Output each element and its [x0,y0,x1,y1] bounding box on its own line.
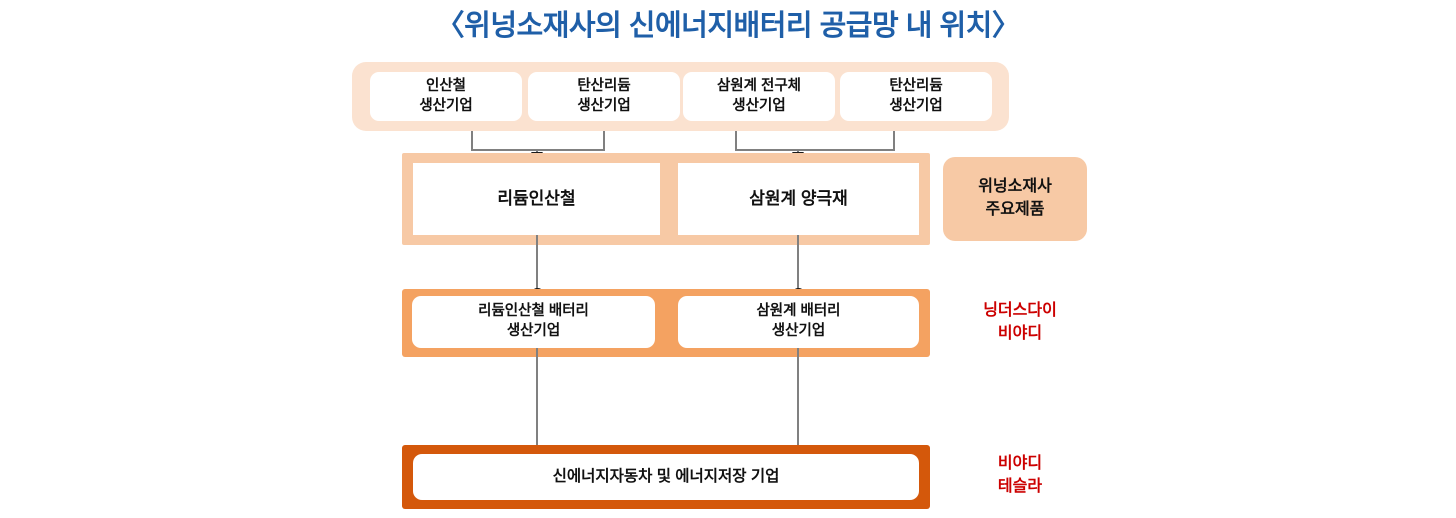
connector-bracket-right [735,149,895,151]
node-lithium-carbonate-2: 탄산리듐 생산기업 [840,72,992,121]
node-lfp-material: 리듐인산철 [413,163,660,235]
side-label-wining-main-products: 위넝소재사 주요제품 [943,157,1087,241]
diagram-canvas: 〈위넝소재사의 신에너지배터리 공급망 내 위치〉 인산철 생산기업 탄산리듐 … [0,0,1456,518]
node-iron-phosphate: 인산철 생산기업 [370,72,522,121]
node-lithium-carbonate-1: 탄산리듐 생산기업 [528,72,680,121]
node-ncm-cathode: 삼원계 양극재 [678,163,919,235]
connector-stem-ncm-precursor [735,131,737,151]
connector-stem-lithium-carbonate-2 [893,131,895,151]
node-lfp-battery-maker: 리듐인산철 배터리 생산기업 [412,296,655,348]
side-label-end-user-companies: 비야디 테슬라 [948,446,1092,506]
page-title: 〈위넝소재사의 신에너지배터리 공급망 내 위치〉 [0,2,1456,44]
connector-lfp-battery-to-enduser [536,348,538,448]
connector-bracket-left [471,149,605,151]
node-ncm-precursor: 삼원계 전구체 생산기업 [683,72,835,121]
connector-ncm-battery-to-enduser [797,348,799,448]
node-nev-ess-companies: 신에너지자동차 및 에너지저장 기업 [413,454,919,500]
side-label-battery-companies: 닝더스다이 비야디 [948,293,1092,353]
connector-ncm-cathode-to-battery [797,235,799,291]
connector-lfp-material-to-battery [536,235,538,291]
node-ncm-battery-maker: 삼원계 배터리 생산기업 [678,296,919,348]
connector-stem-iron-phosphate [471,131,473,151]
connector-stem-lithium-carbonate-1 [603,131,605,151]
